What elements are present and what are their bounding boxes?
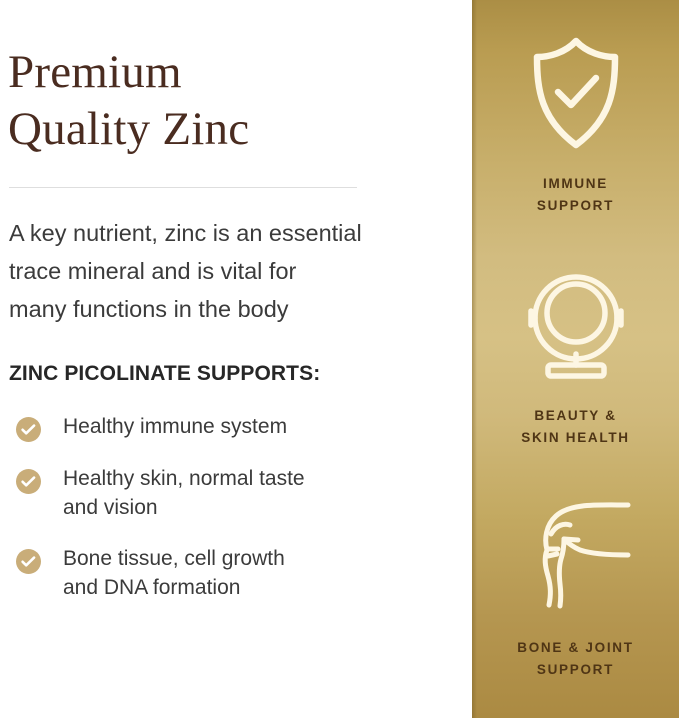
- list-item-line-1: Bone tissue, cell growth: [63, 547, 285, 570]
- intro-line-3: many functions in the body: [9, 290, 459, 328]
- benefit-label-line-1: BEAUTY &: [521, 405, 629, 427]
- list-item-line-2: and DNA formation: [63, 576, 240, 599]
- intro-paragraph: A key nutrient, zinc is an essential tra…: [9, 214, 459, 328]
- benefit-label-line-1: IMMUNE: [537, 173, 614, 195]
- benefit-label-line-1: BONE & JOINT: [517, 637, 633, 659]
- benefit-bone-joint-support: BONE & JOINT SUPPORT: [472, 492, 679, 681]
- left-content-panel: Premium Quality Zinc A key nutrient, zin…: [0, 0, 472, 718]
- benefit-beauty-skin-health: BEAUTY & SKIN HEALTH: [472, 262, 679, 449]
- shield-check-icon: [527, 34, 625, 157]
- benefits-gold-panel: IMMUNE SUPPORT: [472, 0, 679, 718]
- supports-list: Healthy immune system Healthy skin, norm…: [8, 412, 472, 602]
- intro-line-2: trace mineral and is vital for: [9, 252, 459, 290]
- list-item-line-1: Healthy skin, normal taste: [63, 467, 305, 490]
- check-circle-icon: [16, 549, 41, 574]
- knee-joint-icon: [518, 492, 634, 615]
- title-divider: [9, 187, 357, 188]
- list-item: Healthy skin, normal taste and vision: [8, 464, 472, 522]
- list-item-text: Healthy skin, normal taste and vision: [63, 464, 305, 522]
- page-title-line-2: Quality Zinc: [8, 101, 428, 158]
- benefit-label: BEAUTY & SKIN HEALTH: [521, 405, 629, 449]
- page-title: Premium Quality Zinc: [8, 44, 428, 158]
- benefit-label-line-2: SUPPORT: [537, 195, 614, 217]
- list-item-text: Bone tissue, cell growth and DNA formati…: [63, 544, 285, 602]
- list-item-text: Healthy immune system: [63, 412, 287, 441]
- benefit-label: IMMUNE SUPPORT: [537, 173, 614, 217]
- vanity-mirror-icon: [519, 262, 633, 385]
- product-benefits-infographic: Premium Quality Zinc A key nutrient, zin…: [0, 0, 679, 718]
- check-circle-icon: [16, 469, 41, 494]
- benefit-label: BONE & JOINT SUPPORT: [517, 637, 633, 681]
- benefit-label-line-2: SKIN HEALTH: [521, 427, 629, 449]
- benefit-label-line-2: SUPPORT: [517, 659, 633, 681]
- supports-heading: ZINC PICOLINATE SUPPORTS:: [9, 360, 472, 388]
- benefit-immune-support: IMMUNE SUPPORT: [472, 34, 679, 217]
- list-item-line-1: Healthy immune system: [63, 415, 287, 438]
- check-circle-icon: [16, 417, 41, 442]
- list-item: Healthy immune system: [8, 412, 472, 442]
- page-title-line-1: Premium: [8, 44, 428, 101]
- list-item: Bone tissue, cell growth and DNA formati…: [8, 544, 472, 602]
- intro-line-1: A key nutrient, zinc is an essential: [9, 214, 459, 252]
- list-item-line-2: and vision: [63, 496, 158, 519]
